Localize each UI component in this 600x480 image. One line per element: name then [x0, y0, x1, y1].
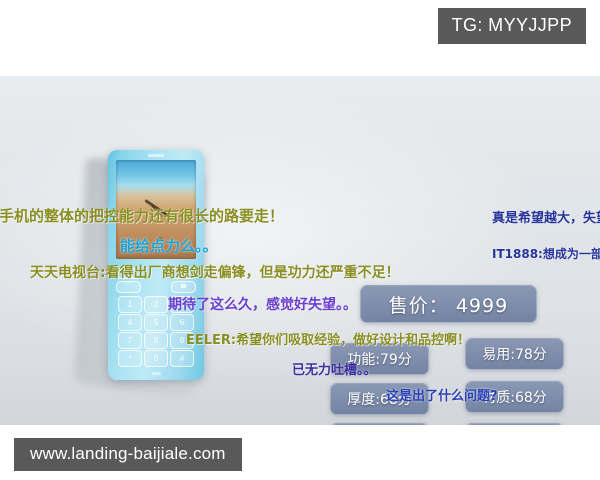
key-star: * — [118, 350, 142, 367]
price-chip: 售价： 4999 — [360, 285, 537, 323]
key-8: 8 — [144, 332, 168, 349]
key-1: 1 — [118, 296, 142, 313]
earpiece-icon — [148, 154, 164, 157]
key-2: 2 — [144, 296, 168, 313]
key-6: 6 — [170, 314, 194, 331]
microphone-icon — [152, 372, 161, 375]
key-0: 0 — [144, 350, 168, 367]
key-7: 7 — [118, 332, 142, 349]
call-key-row: ⌒ ☎ — [116, 281, 196, 293]
key-4: 4 — [118, 314, 142, 331]
phone-keypad: ⌒ ☎ 1 2 3 4 5 6 7 8 9 * 0 — [116, 268, 196, 368]
danmaku-comment: 真是希望越大，失望越 — [492, 212, 600, 225]
danmaku-comment: EELER:希望你们吸取经验，做好设计和品控啊！ — [186, 334, 470, 347]
key-hash: # — [170, 350, 194, 367]
danmaku-comment: IT1888:想成为一部合 — [492, 248, 600, 260]
call-end-icon: ☎ — [171, 281, 196, 293]
telegram-watermark-badge: TG: MYYJJPP — [438, 8, 586, 44]
website-watermark-badge: www.landing-baijiale.com — [14, 438, 242, 471]
danmaku-comment: 期待了这么久，感觉好失望。。 — [168, 298, 357, 312]
call-answer-icon: ⌒ — [116, 281, 141, 293]
danmaku-comment: 已无力吐槽。。 — [292, 364, 377, 377]
danmaku-comment: 对手机的整体的把控能力还有很长的路要走！ — [0, 209, 284, 224]
key-5: 5 — [144, 314, 168, 331]
danmaku-comment: 天天电视台:看得出厂商想剑走偏锋，但是功力还严重不足！ — [30, 266, 400, 280]
score-chip-ease-of-use: 易用:78分 — [465, 338, 564, 370]
danmaku-comment: 这是出了什么问题? — [386, 390, 498, 403]
video-player-screenshot: ⌒ ☎ 1 2 3 4 5 6 7 8 9 * 0 — [0, 0, 600, 480]
video-frame[interactable]: ⌒ ☎ 1 2 3 4 5 6 7 8 9 * 0 — [0, 76, 600, 425]
danmaku-comment: 能给点力么。。 — [120, 239, 218, 254]
